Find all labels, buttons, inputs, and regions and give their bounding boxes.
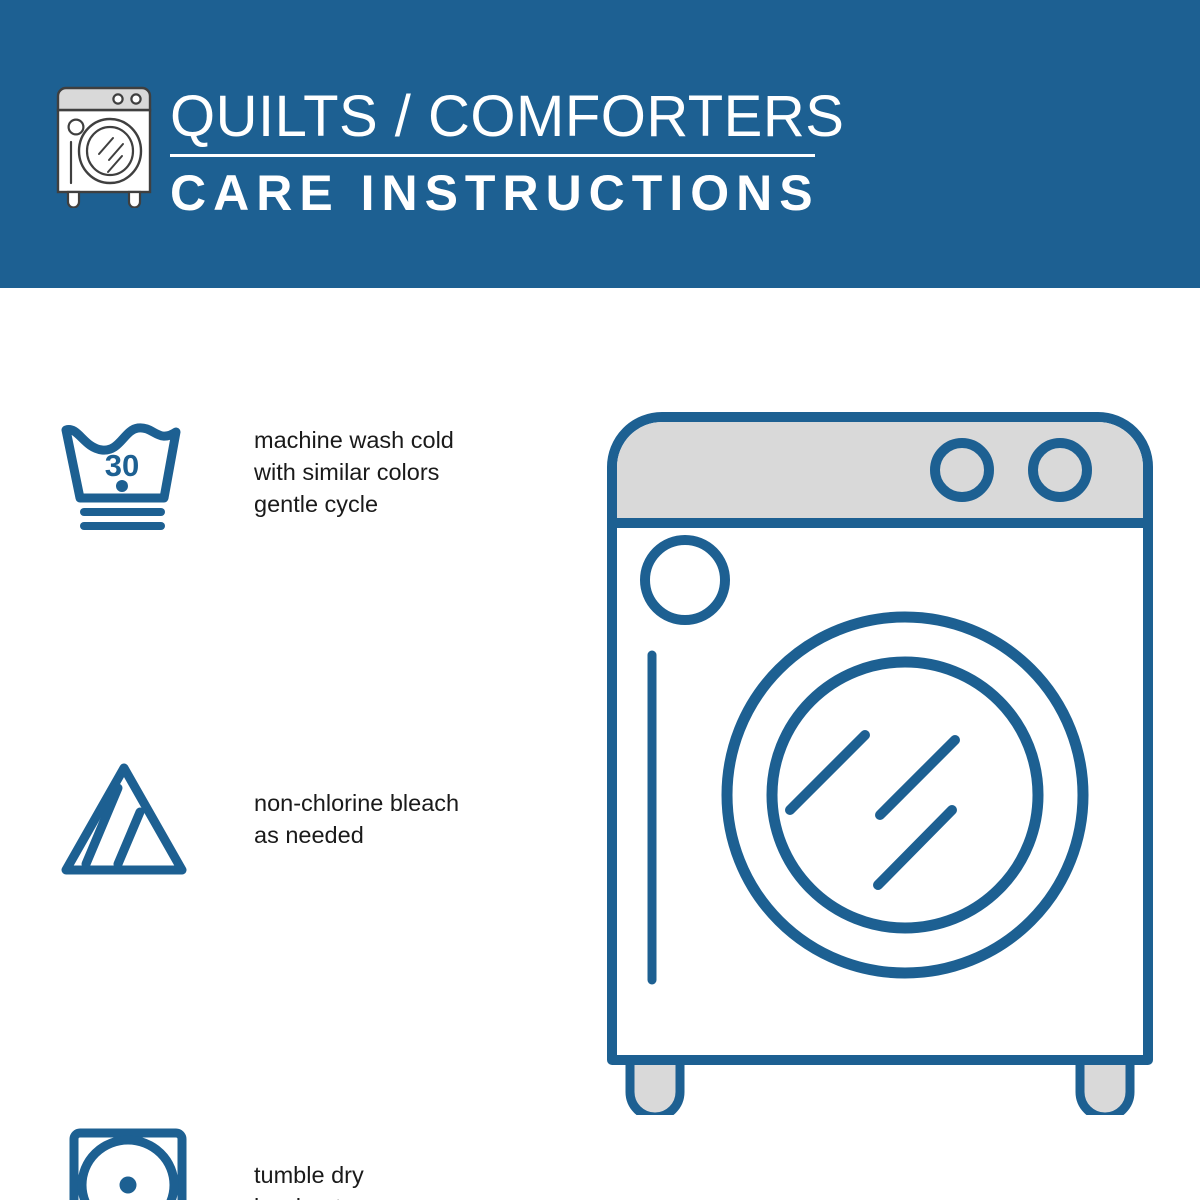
care-line: with similar colors [254, 456, 454, 488]
wash-basin-30-gentle-icon: 30 [58, 418, 198, 538]
knob-right [1033, 443, 1087, 497]
care-instructions-page: QUILTS / COMFORTERS CARE INSTRUCTIONS 30… [0, 0, 1200, 1200]
care-label-wash: machine wash cold with similar colors ge… [254, 424, 454, 520]
care-line: tumble dry [254, 1159, 364, 1191]
washing-machine-icon [52, 82, 156, 208]
care-line: gentle cycle [254, 488, 454, 520]
care-row-wash: 30 machine wash cold with similar colors… [0, 400, 540, 575]
page-title: QUILTS / COMFORTERS [170, 86, 830, 148]
care-line: low heat [254, 1191, 364, 1200]
latch-circle [645, 540, 725, 620]
knob-left [935, 443, 989, 497]
care-line: machine wash cold [254, 424, 454, 456]
title-divider [170, 154, 815, 157]
svg-text:30: 30 [105, 448, 139, 483]
page-header: QUILTS / COMFORTERS CARE INSTRUCTIONS [0, 0, 1200, 288]
care-row-bleach: non-chlorine bleach as needed [0, 575, 540, 750]
header-title-block: QUILTS / COMFORTERS CARE INSTRUCTIONS [170, 86, 830, 221]
care-instruction-list: 30 machine wash cold with similar colors… [0, 400, 540, 1100]
page-subtitle: CARE INSTRUCTIONS [170, 165, 830, 221]
care-label-tumble-dry: tumble dry low heat [254, 1159, 364, 1200]
care-row-tumble-dry: tumble dry low heat [0, 750, 540, 925]
care-row-iron: iron if needed low heat [0, 925, 540, 1100]
washing-machine-illustration [600, 405, 1160, 1115]
tumble-dry-low-heat-icon [66, 1125, 190, 1200]
